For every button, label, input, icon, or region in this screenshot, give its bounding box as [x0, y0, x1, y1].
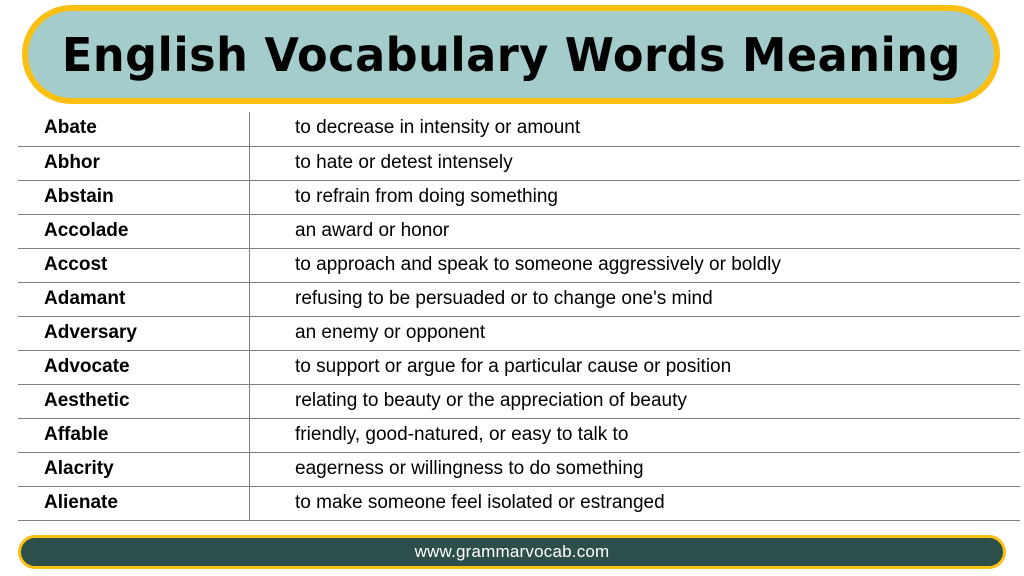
table-row: Adamantrefusing to be persuaded or to ch… — [18, 282, 1020, 316]
footer-banner: www.grammarvocab.com — [18, 535, 1006, 569]
vocabulary-meaning: to hate or detest intensely — [250, 146, 1021, 180]
vocabulary-word: Abstain — [18, 180, 250, 214]
header-banner: English Vocabulary Words Meaning — [22, 5, 1000, 104]
table-row: Abstainto refrain from doing something — [18, 180, 1020, 214]
vocabulary-word: Adversary — [18, 316, 250, 350]
table-row: Advocateto support or argue for a partic… — [18, 350, 1020, 384]
table-row: Accostto approach and speak to someone a… — [18, 248, 1020, 282]
table-row: Aestheticrelating to beauty or the appre… — [18, 384, 1020, 418]
vocabulary-table: Abateto decrease in intensity or amountA… — [18, 112, 1020, 521]
vocabulary-meaning: relating to beauty or the appreciation o… — [250, 384, 1021, 418]
website-url: www.grammarvocab.com — [415, 542, 610, 562]
vocabulary-meaning: friendly, good-natured, or easy to talk … — [250, 418, 1021, 452]
vocabulary-word: Alienate — [18, 486, 250, 520]
page-title: English Vocabulary Words Meaning — [61, 28, 960, 82]
vocabulary-meaning: to refrain from doing something — [250, 180, 1021, 214]
vocabulary-word: Affable — [18, 418, 250, 452]
vocabulary-meaning: an enemy or opponent — [250, 316, 1021, 350]
vocabulary-word: Adamant — [18, 282, 250, 316]
vocabulary-word: Accolade — [18, 214, 250, 248]
vocabulary-word: Alacrity — [18, 452, 250, 486]
vocabulary-meaning: to decrease in intensity or amount — [250, 112, 1021, 146]
vocabulary-word: Advocate — [18, 350, 250, 384]
vocabulary-meaning: eagerness or willingness to do something — [250, 452, 1021, 486]
vocabulary-word: Accost — [18, 248, 250, 282]
table-row: Alacrityeagerness or willingness to do s… — [18, 452, 1020, 486]
table-row: Accoladean award or honor — [18, 214, 1020, 248]
table-row: Abhorto hate or detest intensely — [18, 146, 1020, 180]
vocabulary-word: Abate — [18, 112, 250, 146]
table-row: Adversaryan enemy or opponent — [18, 316, 1020, 350]
vocabulary-meaning: refusing to be persuaded or to change on… — [250, 282, 1021, 316]
vocabulary-meaning: to support or argue for a particular cau… — [250, 350, 1021, 384]
table-row: Alienateto make someone feel isolated or… — [18, 486, 1020, 520]
vocabulary-word: Aesthetic — [18, 384, 250, 418]
table-row: Abateto decrease in intensity or amount — [18, 112, 1020, 146]
vocabulary-meaning: to make someone feel isolated or estrang… — [250, 486, 1021, 520]
vocabulary-word: Abhor — [18, 146, 250, 180]
table-row: Affablefriendly, good-natured, or easy t… — [18, 418, 1020, 452]
vocabulary-table-body: Abateto decrease in intensity or amountA… — [18, 112, 1020, 520]
vocabulary-page: English Vocabulary Words Meaning Abateto… — [0, 0, 1024, 576]
vocabulary-meaning: an award or honor — [250, 214, 1021, 248]
vocabulary-meaning: to approach and speak to someone aggress… — [250, 248, 1021, 282]
